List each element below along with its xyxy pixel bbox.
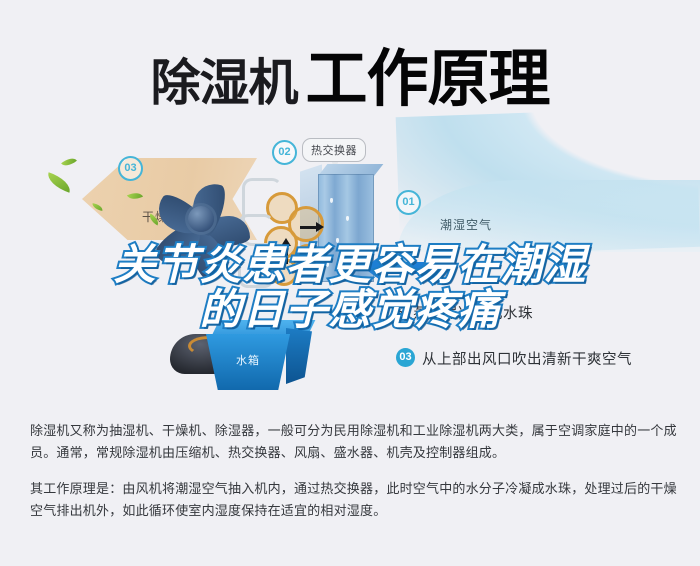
badge-dry-air: 03 [118,156,143,181]
page-title: 除湿机工作原理 [0,28,700,118]
condensation-droplet [356,252,359,257]
condensation-droplet [330,198,333,203]
water-tank-label: 水箱 [236,352,260,368]
step-caption-outlet: 从上部出风口吹出清新干爽空气 [422,348,632,369]
condensation-droplet [346,216,349,221]
badge-heat-exchanger: 02 [272,140,297,165]
badge-humid-air: 01 [396,190,421,215]
fan-illustration [148,164,260,276]
flow-arrow-down [308,258,318,266]
title-part-one: 除湿机 [150,55,297,111]
humid-air-label: 潮湿空气 [440,216,492,233]
flow-arrow-right [316,222,324,232]
flow-arrow-stem [285,246,288,264]
leaf-icon [45,172,74,192]
flow-arrow-up [281,238,291,246]
title-part-two: 工作原理 [305,45,549,114]
dehumidifier-diagram: 01 潮湿空气 03 干燥空气 热交换器 02 [0,120,700,410]
water-tank-side [286,328,312,384]
air-intake-arrowhead [364,256,380,280]
refrigerant-coil-assembly [258,182,330,286]
condensation-droplet [336,238,339,243]
body-paragraph-2: 其工作原理是：由风机将潮湿空气抽入机内，通过热交换器，此时空气中的水分子冷凝成水… [30,478,678,522]
fan-hub [188,206,214,232]
step-caption-condensation: 过蒸发器冷凝成水珠 [398,302,533,323]
badge-step-three: 03 [396,348,415,367]
coil-ring [270,258,298,286]
body-copy: 除湿机又称为抽湿机、干燥机、除湿器，一般可分为民用除湿机和工业除湿机两大类，属于… [30,420,678,532]
air-intake-arrow [378,262,424,274]
infographic-page: 除湿机工作原理 01 潮湿空气 03 干燥空气 热交换器 02 [0,0,700,566]
body-paragraph-1: 除湿机又称为抽湿机、干燥机、除湿器，一般可分为民用除湿机和工业除湿机两大类，属于… [30,420,678,464]
leaf-icon [61,154,77,169]
heat-exchanger-callout: 热交换器 [302,138,366,162]
